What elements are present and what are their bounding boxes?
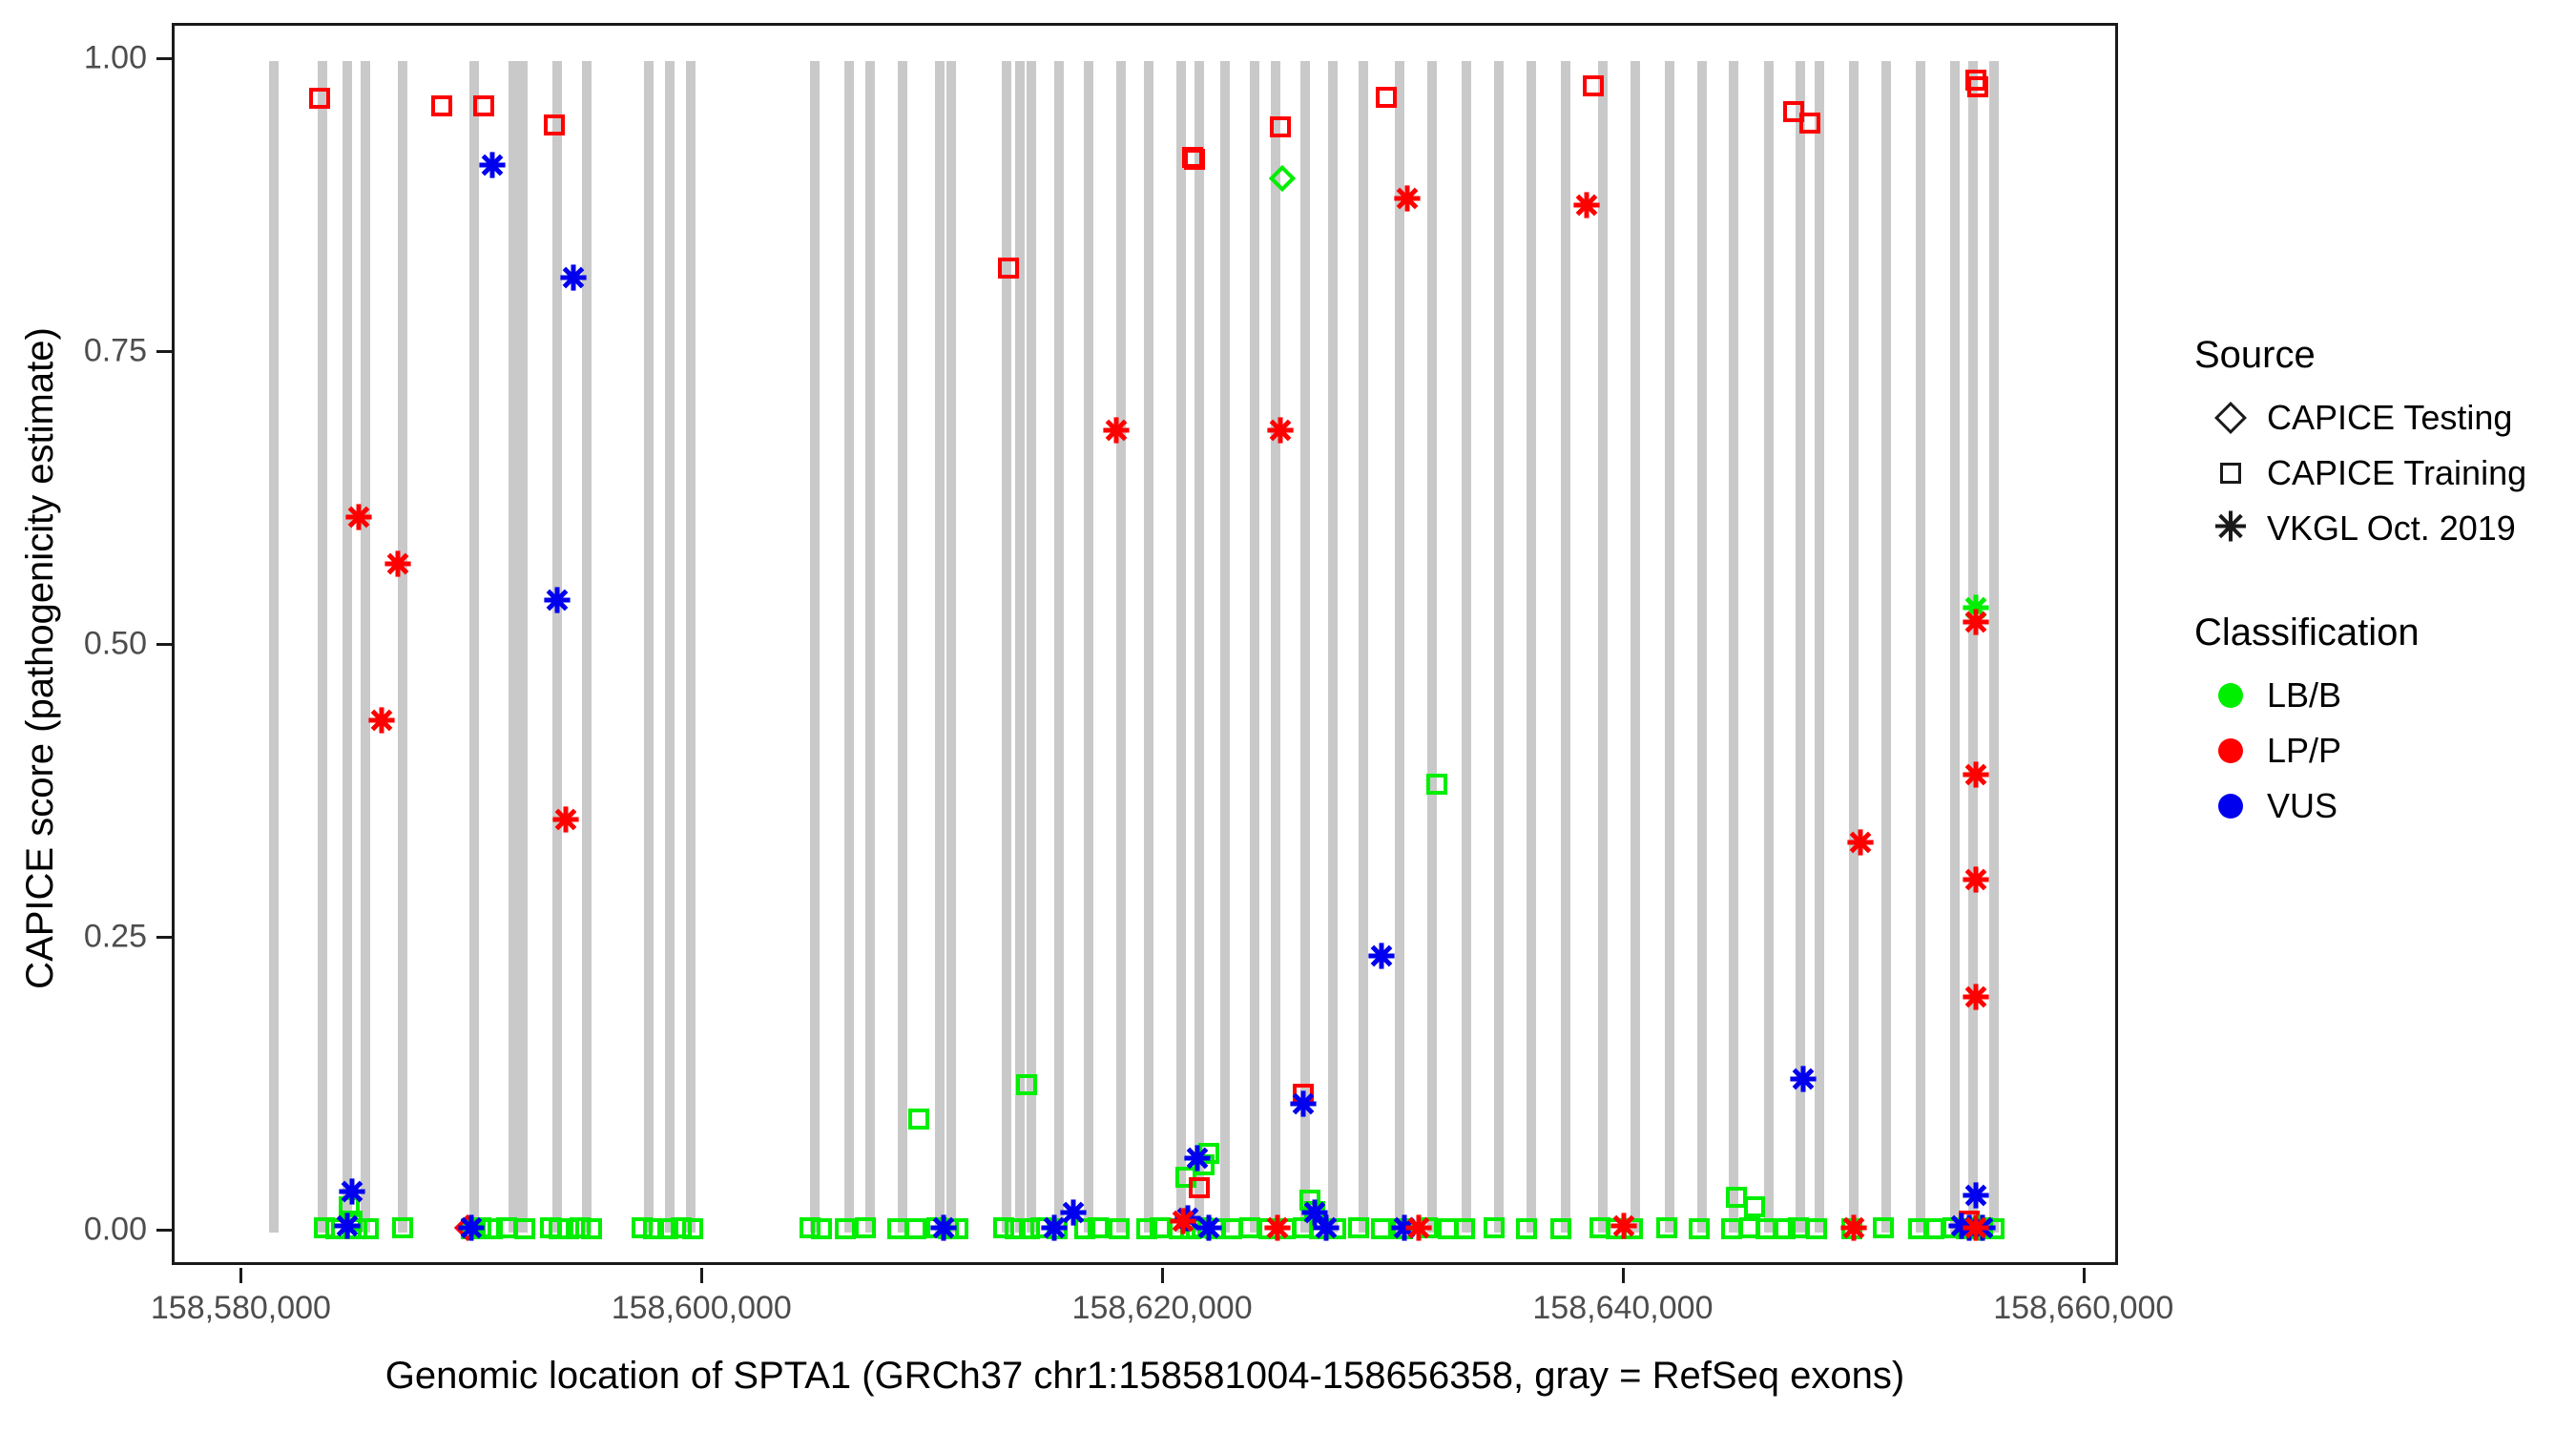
data-point bbox=[1088, 1217, 1109, 1238]
data-point bbox=[1963, 867, 1988, 893]
exon-bar bbox=[1220, 61, 1230, 1233]
exon-bar bbox=[1054, 61, 1064, 1233]
exon-bar bbox=[1250, 61, 1259, 1233]
exon-bar bbox=[1729, 61, 1738, 1233]
x-tick-label: 158,660,000 bbox=[1993, 1290, 2173, 1327]
data-point bbox=[1195, 1215, 1221, 1241]
data-point bbox=[1104, 417, 1130, 443]
data-point bbox=[473, 95, 494, 116]
color-dot-icon bbox=[2194, 723, 2267, 778]
exon-bar bbox=[1598, 61, 1608, 1233]
exon-bar bbox=[1815, 61, 1824, 1233]
data-point bbox=[560, 264, 586, 290]
exon-bar bbox=[1697, 61, 1707, 1233]
exon-bar bbox=[1271, 61, 1280, 1233]
legend-item[interactable]: CAPICE Testing bbox=[2194, 390, 2576, 446]
x-tick bbox=[700, 1268, 703, 1283]
data-point bbox=[1516, 1218, 1537, 1239]
data-point bbox=[1790, 1067, 1816, 1092]
legend-classification-items: LB/BLP/PVUS bbox=[2194, 668, 2576, 834]
exon-bar bbox=[1881, 61, 1891, 1233]
data-point bbox=[855, 1217, 876, 1238]
exon-bar bbox=[1462, 61, 1471, 1233]
legend-item[interactable]: LP/P bbox=[2194, 723, 2576, 778]
data-point bbox=[358, 1218, 379, 1239]
data-point bbox=[1171, 1208, 1196, 1234]
exon-bar bbox=[318, 61, 327, 1233]
y-tick bbox=[156, 350, 172, 353]
exon-bar bbox=[1328, 61, 1338, 1233]
x-tick-label: 158,600,000 bbox=[612, 1290, 792, 1327]
exon-bar bbox=[552, 61, 562, 1233]
data-point bbox=[581, 1218, 602, 1239]
data-point bbox=[309, 88, 330, 109]
exon-bar bbox=[1527, 61, 1536, 1233]
data-point bbox=[1873, 1217, 1894, 1238]
data-point bbox=[1484, 1217, 1505, 1238]
x-tick bbox=[239, 1268, 242, 1283]
exon-bar bbox=[361, 61, 370, 1233]
x-tick bbox=[1161, 1268, 1164, 1283]
data-point bbox=[1042, 1215, 1068, 1241]
exon-bar bbox=[1427, 61, 1437, 1233]
data-point bbox=[1583, 75, 1604, 96]
data-point bbox=[1744, 1196, 1765, 1217]
exon-bar bbox=[1561, 61, 1570, 1233]
exon-bar bbox=[1195, 61, 1204, 1233]
data-point bbox=[346, 504, 372, 529]
data-point bbox=[1267, 417, 1293, 443]
data-point bbox=[1184, 149, 1205, 170]
y-tick-label: 0.25 bbox=[84, 919, 147, 956]
exon-bar bbox=[1665, 61, 1674, 1233]
asterisk-icon bbox=[2194, 501, 2267, 556]
y-tick bbox=[156, 1229, 172, 1232]
exon-bar bbox=[1796, 61, 1805, 1233]
exon-bar bbox=[509, 61, 518, 1233]
x-tick-label: 158,640,000 bbox=[1532, 1290, 1713, 1327]
exon-bar bbox=[1084, 61, 1093, 1233]
data-point bbox=[553, 806, 579, 832]
data-point bbox=[1848, 830, 1874, 856]
data-point bbox=[1016, 1074, 1037, 1095]
data-point bbox=[908, 1109, 929, 1130]
exon-bar bbox=[686, 61, 696, 1233]
data-point bbox=[480, 153, 506, 178]
legend-source-items: CAPICE TestingCAPICE TrainingVKGL Oct. 2… bbox=[2194, 390, 2576, 556]
data-point bbox=[514, 1218, 535, 1239]
data-point bbox=[835, 1218, 856, 1239]
data-point bbox=[1963, 985, 1988, 1010]
exon-bar bbox=[1631, 61, 1640, 1233]
data-point bbox=[1656, 1217, 1677, 1238]
exon-bar bbox=[1764, 61, 1774, 1233]
plot-panel bbox=[172, 23, 2118, 1265]
y-tick bbox=[156, 936, 172, 939]
data-point bbox=[682, 1218, 703, 1239]
square-icon bbox=[2194, 446, 2267, 501]
legend-item-label: VUS bbox=[2267, 786, 2337, 826]
data-point bbox=[1454, 1218, 1475, 1239]
legend-item[interactable]: VKGL Oct. 2019 bbox=[2194, 501, 2576, 556]
data-point bbox=[1840, 1215, 1866, 1241]
chart-root: CAPICE score (pathogenicity estimate) Ge… bbox=[0, 0, 2576, 1431]
x-tick bbox=[1622, 1268, 1625, 1283]
data-point bbox=[1799, 113, 1820, 134]
exon-bar bbox=[343, 61, 352, 1233]
legend-item-label: CAPICE Testing bbox=[2267, 398, 2512, 438]
x-tick bbox=[2083, 1268, 2086, 1283]
data-point bbox=[1189, 1177, 1210, 1198]
data-point bbox=[1806, 1218, 1827, 1239]
legend-item[interactable]: LB/B bbox=[2194, 668, 2576, 723]
exon-bar bbox=[1116, 61, 1126, 1233]
x-tick-label: 158,620,000 bbox=[1072, 1290, 1253, 1327]
legend-title-classification: Classification bbox=[2194, 612, 2576, 654]
legend-item-label: VKGL Oct. 2019 bbox=[2267, 508, 2516, 549]
data-point bbox=[1610, 1213, 1636, 1238]
y-tick bbox=[156, 643, 172, 646]
data-point bbox=[1963, 1182, 1988, 1208]
data-point bbox=[998, 258, 1019, 279]
data-point bbox=[1348, 1217, 1369, 1238]
exon-bar bbox=[1395, 61, 1404, 1233]
data-point bbox=[1371, 1218, 1392, 1239]
data-point bbox=[1963, 761, 1988, 787]
exon-bar bbox=[1027, 61, 1036, 1233]
data-point bbox=[1270, 116, 1291, 137]
exon-bar bbox=[1002, 61, 1011, 1233]
data-point bbox=[385, 550, 411, 576]
data-point bbox=[905, 1218, 926, 1239]
data-point bbox=[931, 1215, 957, 1241]
y-tick-label: 1.00 bbox=[84, 39, 147, 76]
data-point bbox=[1426, 774, 1447, 795]
exon-bar bbox=[1015, 61, 1025, 1233]
data-point bbox=[1314, 1215, 1340, 1241]
exon-bar bbox=[582, 61, 592, 1233]
data-point bbox=[1265, 1215, 1291, 1241]
exon-bar bbox=[644, 61, 654, 1233]
exon-bar bbox=[269, 61, 279, 1233]
color-dot-icon bbox=[2194, 778, 2267, 834]
exon-bar bbox=[844, 61, 854, 1233]
data-point bbox=[1109, 1218, 1130, 1239]
exon-bar bbox=[1494, 61, 1504, 1233]
diamond-icon bbox=[2194, 390, 2267, 446]
data-point bbox=[1963, 610, 1988, 635]
data-point bbox=[1184, 1145, 1210, 1171]
data-point bbox=[1967, 76, 1988, 97]
legend-item-label: CAPICE Training bbox=[2267, 453, 2526, 493]
exon-bar bbox=[810, 61, 820, 1233]
exon-bar bbox=[1176, 61, 1186, 1233]
data-point bbox=[1376, 87, 1397, 108]
legend: Source CAPICE TestingCAPICE TrainingVKGL… bbox=[2194, 334, 2576, 834]
legend-spacer bbox=[2194, 556, 2576, 612]
plot-area bbox=[175, 26, 2115, 1262]
exon-bar bbox=[946, 61, 956, 1233]
data-point bbox=[392, 1217, 413, 1238]
legend-item[interactable]: CAPICE Training bbox=[2194, 446, 2576, 501]
data-point bbox=[431, 95, 452, 116]
data-point bbox=[334, 1213, 360, 1238]
data-point bbox=[1368, 944, 1394, 969]
y-tick bbox=[156, 57, 172, 60]
data-point bbox=[1963, 1215, 1988, 1241]
exon-bar bbox=[1144, 61, 1153, 1233]
color-dot-icon bbox=[2194, 668, 2267, 723]
exon-bar bbox=[1916, 61, 1925, 1233]
legend-item-label: LB/B bbox=[2267, 675, 2341, 715]
data-point bbox=[459, 1215, 485, 1241]
y-axis-title: CAPICE score (pathogenicity estimate) bbox=[13, 0, 67, 1326]
exon-bar bbox=[1300, 61, 1310, 1233]
data-point bbox=[1290, 1090, 1316, 1116]
exon-bar bbox=[898, 61, 907, 1233]
exon-bar bbox=[518, 61, 528, 1233]
data-point bbox=[544, 114, 565, 135]
data-point bbox=[339, 1179, 364, 1205]
y-tick-label: 0.50 bbox=[84, 626, 147, 663]
data-point bbox=[1405, 1215, 1431, 1241]
data-point bbox=[1689, 1218, 1710, 1239]
data-point bbox=[1573, 192, 1599, 218]
data-point bbox=[369, 708, 395, 734]
x-axis-title: Genomic location of SPTA1 (GRCh37 chr1:1… bbox=[172, 1355, 2118, 1398]
x-tick-label: 158,580,000 bbox=[151, 1290, 331, 1327]
exon-bar bbox=[1968, 61, 1978, 1233]
exon-bar bbox=[1849, 61, 1859, 1233]
exon-bar bbox=[1950, 61, 1960, 1233]
exon-bar bbox=[665, 61, 675, 1233]
y-tick-label: 0.75 bbox=[84, 332, 147, 369]
exon-bar bbox=[1359, 61, 1368, 1233]
legend-item[interactable]: VUS bbox=[2194, 778, 2576, 834]
legend-item-label: LP/P bbox=[2267, 731, 2341, 771]
data-point bbox=[1394, 185, 1420, 211]
exon-bar bbox=[469, 61, 479, 1233]
data-point bbox=[544, 587, 570, 612]
legend-title-source: Source bbox=[2194, 334, 2576, 377]
data-point bbox=[811, 1218, 832, 1239]
exon-bar bbox=[935, 61, 945, 1233]
exon-bar bbox=[398, 61, 407, 1233]
y-tick-label: 0.00 bbox=[84, 1212, 147, 1249]
data-point bbox=[1550, 1218, 1571, 1239]
exon-bar bbox=[865, 61, 875, 1233]
exon-bar bbox=[1989, 61, 1999, 1233]
